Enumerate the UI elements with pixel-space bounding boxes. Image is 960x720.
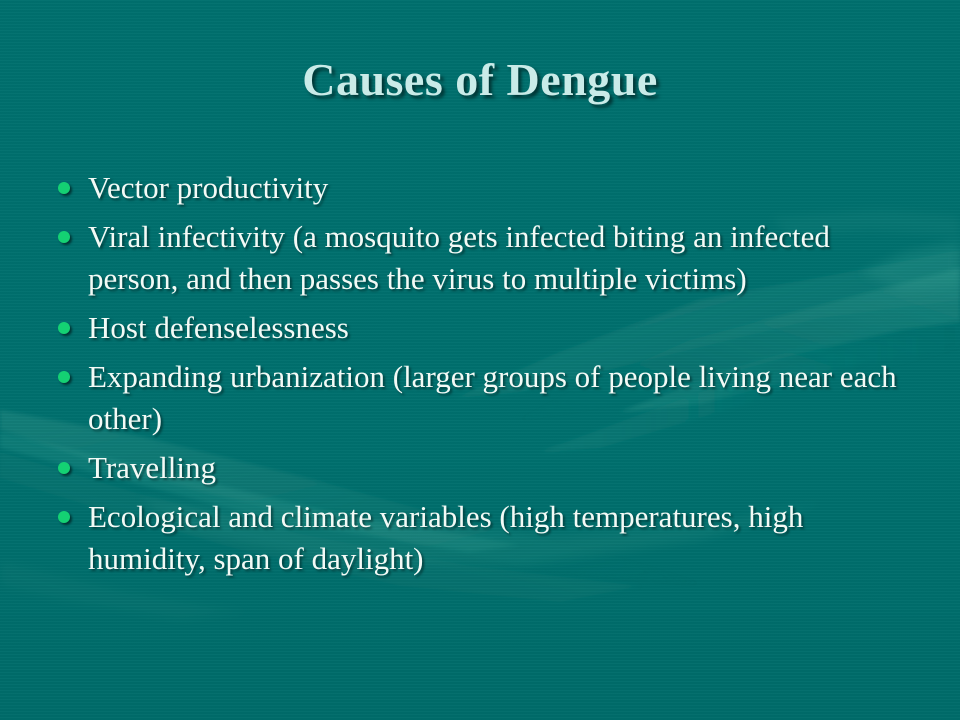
list-item: Ecological and climate variables (high t… xyxy=(46,496,914,580)
list-item: Expanding urbanization (larger groups of… xyxy=(46,356,914,440)
list-item-text: Vector productivity xyxy=(88,167,914,209)
slide-title: Causes of Dengue xyxy=(0,56,960,104)
list-item: Travelling xyxy=(46,447,914,489)
list-item-text: Travelling xyxy=(88,447,914,489)
bullet-dot-icon xyxy=(46,216,88,254)
bullet-dot-icon xyxy=(46,307,88,345)
list-item-text: Viral infectivity (a mosquito gets infec… xyxy=(88,216,914,300)
bullet-dot-icon xyxy=(46,496,88,534)
list-item-text: Host defenselessness xyxy=(88,307,914,349)
list-item: Vector productivity xyxy=(46,167,914,209)
bullet-dot-icon xyxy=(46,167,88,205)
bullet-dot-icon xyxy=(46,447,88,485)
list-item: Viral infectivity (a mosquito gets infec… xyxy=(46,216,914,300)
bullet-list: Vector productivity Viral infectivity (a… xyxy=(46,167,914,587)
list-item: Host defenselessness xyxy=(46,307,914,349)
presentation-slide: Causes of Dengue Vector productivity Vir… xyxy=(0,0,960,720)
list-item-text: Ecological and climate variables (high t… xyxy=(88,496,914,580)
list-item-text: Expanding urbanization (larger groups of… xyxy=(88,356,914,440)
bullet-dot-icon xyxy=(46,356,88,394)
